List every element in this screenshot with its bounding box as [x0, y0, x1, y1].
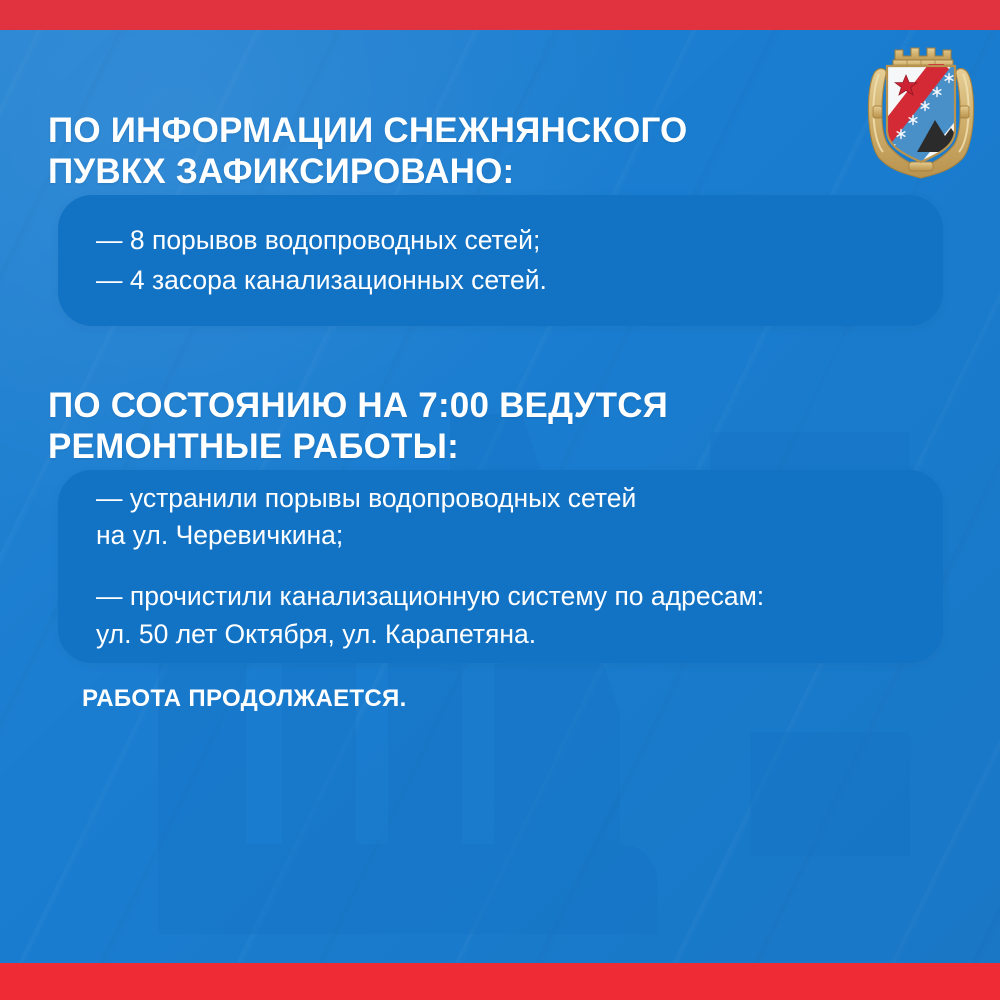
section-2-card: — устранили порывы водопроводных сетей н…	[58, 470, 943, 663]
section-2-heading: ПО СОСТОЯНИЮ НА 7:00 ВЕДУТСЯ РЕМОНТНЫЕ Р…	[48, 386, 808, 467]
closing-statement: РАБОТА ПРОДОЛЖАЕТСЯ.	[82, 685, 407, 713]
top-red-bar	[0, 0, 1000, 30]
list-item: — устранили порывы водопроводных сетей н…	[96, 480, 919, 555]
list-item: — прочистили канализационную систему по …	[96, 578, 919, 653]
section-1-list: — 8 порывов водопроводных сетей; — 4 зас…	[96, 195, 919, 326]
bottom-red-bar	[0, 963, 1000, 1000]
list-item: — 8 порывов водопроводных сетей;	[96, 222, 919, 260]
poster-canvas: ПО ИНФОРМАЦИИ СНЕЖНЯНСКОГО ПУВКХ ЗАФИКСИ…	[0, 0, 1000, 1000]
section-2-list: — устранили порывы водопроводных сетей н…	[96, 470, 919, 663]
poster-content: ПО ИНФОРМАЦИИ СНЕЖНЯНСКОГО ПУВКХ ЗАФИКСИ…	[0, 30, 1000, 963]
list-item: — 4 засора канализационных сетей.	[96, 262, 919, 300]
section-1-card: — 8 порывов водопроводных сетей; — 4 зас…	[58, 195, 943, 326]
section-1-heading: ПО ИНФОРМАЦИИ СНЕЖНЯНСКОГО ПУВКХ ЗАФИКСИ…	[48, 111, 838, 192]
